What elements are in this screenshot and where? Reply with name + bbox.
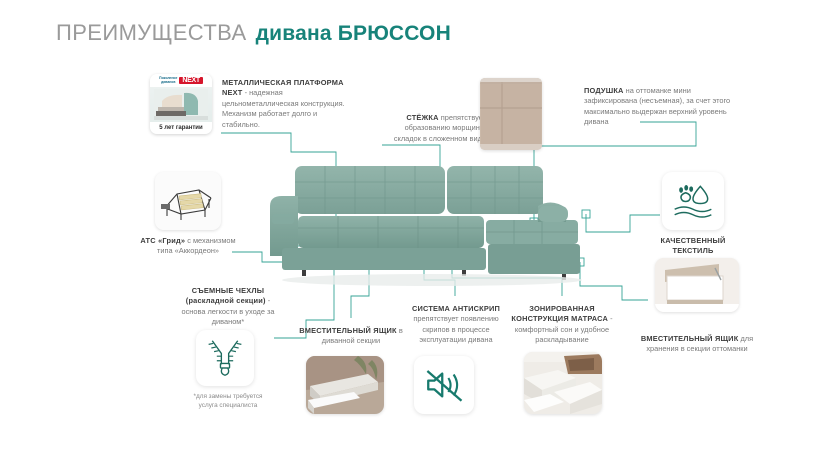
feature-platform-next-title: МЕТАЛЛИЧЕСКАЯ ПЛАТФОРМА NEXT bbox=[222, 78, 344, 97]
feature-zoned-mattress: ЗОНИРОВАННАЯ КОНСТРУКЦИЯ МАТРАСА - комфо… bbox=[506, 304, 618, 346]
next-generation-line2: диванов bbox=[159, 81, 177, 85]
feature-pillow: ПОДУШКА на оттоманке мини зафиксирована … bbox=[584, 86, 732, 128]
ottoman-storage-photo bbox=[655, 258, 739, 312]
next-warranty: 5 лет гарантии bbox=[150, 122, 212, 134]
badge-textile-line2: ТЕКСТИЛЬ bbox=[673, 246, 714, 255]
badge-textile-line1: КАЧЕСТВЕННЫЙ bbox=[661, 236, 726, 245]
feature-quilting: СТЁЖКА препятствует образованию морщин и… bbox=[378, 113, 486, 144]
feature-ats-grid: АТС «Грид» с механизмом типа «Аккордеон» bbox=[139, 236, 237, 257]
feature-anti-squeak-title: СИСТЕМА АНТИСКРИП bbox=[412, 304, 500, 313]
quilted-cushion-photo bbox=[480, 78, 542, 150]
feature-storage-ottoman: ВМЕСТИТЕЛЬНЫЙ ЯЩИК для хранения в секции… bbox=[638, 334, 756, 355]
sofa-next-photo bbox=[154, 89, 208, 120]
dash-7: - bbox=[608, 314, 613, 323]
paw-water-layers-icon bbox=[662, 172, 724, 230]
feature-pillow-title: ПОДУШКА bbox=[584, 86, 624, 95]
badge-next-platform: Поколение диванов NEXT 5 лет гарантии bbox=[150, 74, 212, 134]
dash-4: - bbox=[266, 296, 271, 305]
title-main: ПРЕИМУЩЕСТВА bbox=[56, 20, 247, 46]
title-accent: дивана БРЮССОН bbox=[256, 22, 451, 46]
feature-storage-sofa-title: ВМЕСТИТЕЛЬНЫЙ ЯЩИК bbox=[299, 326, 397, 335]
speaker-mute-icon bbox=[414, 356, 474, 414]
next-badge-header: Поколение диванов NEXT bbox=[150, 74, 212, 87]
footnote-line2: услуга специалиста bbox=[184, 401, 272, 410]
footnote-line1: *для замены требуется bbox=[184, 392, 272, 401]
feature-removable-covers: СЪЕМНЫЕ ЧЕХЛЫ (раскладной секции) - осно… bbox=[178, 286, 278, 328]
feature-zoned-mattress-body: комфортный сон и удобное раскладывание bbox=[515, 325, 609, 344]
corner-sofa-photo bbox=[262, 158, 602, 293]
feature-storage-sofa: ВМЕСТИТЕЛЬНЫЙ ЯЩИК в диванной секции bbox=[296, 326, 406, 347]
infographic-canvas: ПРЕИМУЩЕСТВА дивана БРЮССОН bbox=[0, 0, 840, 450]
ats-grid-block: АТС «Грид» с механизмом типа «Аккордеон» bbox=[155, 172, 237, 257]
feature-anti-squeak-body: препятствует появлению скрипов в процесс… bbox=[413, 314, 498, 344]
next-logo: NEXT bbox=[179, 77, 202, 84]
footnote: *для замены требуется услуга специалиста bbox=[184, 392, 272, 410]
page-title: ПРЕИМУЩЕСТВА дивана БРЮССОН bbox=[56, 20, 451, 46]
next-warranty-text: 5 лет гарантии bbox=[159, 125, 202, 131]
ats-grid-mechanism-photo bbox=[155, 172, 221, 230]
feature-zoned-mattress-title: ЗОНИРОВАННАЯ КОНСТРУКЦИЯ МАТРАСА bbox=[511, 304, 608, 323]
feature-anti-squeak: СИСТЕМА АНТИСКРИП препятствует появлению… bbox=[404, 304, 508, 346]
feature-platform-next: МЕТАЛЛИЧЕСКАЯ ПЛАТФОРМА NEXT - надежная … bbox=[222, 78, 352, 130]
feature-ats-grid-title: АТС «Грид» bbox=[140, 236, 185, 245]
badge-quality-textile: КАЧЕСТВЕННЫЙ ТЕКСТИЛЬ bbox=[662, 172, 731, 256]
storage-box-photo bbox=[306, 356, 384, 414]
zipper-icon bbox=[196, 330, 254, 386]
next-badge-card: Поколение диванов NEXT 5 лет гарантии bbox=[150, 74, 212, 134]
feature-storage-ottoman-title: ВМЕСТИТЕЛЬНЫЙ ЯЩИК bbox=[641, 334, 739, 343]
badge-textile-label: КАЧЕСТВЕННЫЙ ТЕКСТИЛЬ bbox=[655, 236, 731, 256]
zoned-mattress-photo bbox=[524, 352, 602, 414]
feature-removable-covers-title: СЪЕМНЫЕ ЧЕХЛЫ (раскладной секции) bbox=[186, 286, 266, 305]
feature-removable-covers-body: основа легкости в уходе за диваном* bbox=[181, 307, 274, 326]
feature-quilting-title: СТЁЖКА bbox=[406, 113, 438, 122]
